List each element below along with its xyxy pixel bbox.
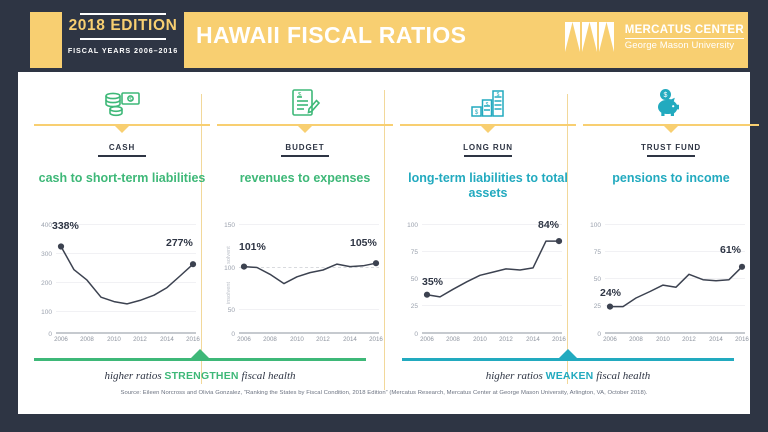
chart-budget-end-label: 105% <box>350 237 377 249</box>
svg-text:0: 0 <box>597 331 601 338</box>
svg-text:2008: 2008 <box>446 336 460 343</box>
svg-text:100: 100 <box>590 222 601 229</box>
svg-text:2006: 2006 <box>420 336 434 343</box>
panel-headline-trust-fund: pensions to income <box>583 171 759 203</box>
panel-kicker-budget: BUDGET <box>217 143 393 155</box>
footer-emphasis-strengthen: STRENGTHEN <box>164 370 238 382</box>
svg-text:150: 150 <box>224 222 235 229</box>
svg-text:75: 75 <box>411 249 419 256</box>
cash-money-icon: $ <box>34 82 210 124</box>
svg-text:2012: 2012 <box>133 336 147 343</box>
svg-text:$: $ <box>664 92 668 99</box>
footer-text-before-left: higher ratios <box>104 370 164 382</box>
svg-text:2014: 2014 <box>343 336 357 343</box>
svg-text:0: 0 <box>231 331 235 338</box>
svg-text:2014: 2014 <box>160 336 174 343</box>
svg-text:2016: 2016 <box>186 336 200 343</box>
svg-text:50: 50 <box>411 276 419 283</box>
footer-weaken: higher ratios WEAKEN fiscal health <box>392 352 744 382</box>
chart-long-run-end-label: 84% <box>538 219 559 231</box>
content-board: $ CASH cash to short-term liabilities 40… <box>18 72 750 414</box>
page-title: HAWAII FISCAL RATIOS <box>196 22 466 49</box>
svg-text:50: 50 <box>228 307 236 314</box>
kicker-underline-cash <box>98 155 146 157</box>
svg-text:2012: 2012 <box>499 336 513 343</box>
svg-text:2016: 2016 <box>735 336 749 343</box>
svg-text:$: $ <box>475 110 479 116</box>
svg-text:2006: 2006 <box>237 336 251 343</box>
logo-subtitle: George Mason University <box>625 41 744 51</box>
svg-text:25: 25 <box>411 303 419 310</box>
svg-text:100: 100 <box>41 309 52 316</box>
chart-cash-start-label: 338% <box>52 220 79 232</box>
footer-text-after-left: fiscal health <box>239 370 296 382</box>
panel-kicker-long-run: LONG RUN <box>400 143 576 155</box>
svg-text:$: $ <box>129 97 132 103</box>
footer-strengthen: higher ratios STRENGTHEN fiscal health <box>24 352 376 382</box>
panel-headline-budget: revenues to expenses <box>217 171 393 203</box>
svg-text:2010: 2010 <box>290 336 304 343</box>
panel-budget: $ BUDGET revenues to expenses 150 100 50… <box>217 82 393 343</box>
source-note: Source: Eileen Norcross and Olivia Gonza… <box>18 390 750 396</box>
footer-text-before-right: higher ratios <box>486 370 546 382</box>
footer-emphasis-weaken: WEAKEN <box>546 370 594 382</box>
logo-name: MERCATUS CENTER <box>625 24 744 36</box>
footer-caption-strengthen: higher ratios STRENGTHEN fiscal health <box>24 370 376 382</box>
panel-kicker-cash: CASH <box>34 143 210 155</box>
infographic-page: 2018 EDITION FISCAL YEARS 2006–2016 HAWA… <box>0 0 768 432</box>
svg-text:2008: 2008 <box>80 336 94 343</box>
chart-budget: 150 100 50 0 solvent insolvent <box>217 211 393 343</box>
svg-text:insolvent: insolvent <box>226 281 232 304</box>
svg-text:0: 0 <box>414 331 418 338</box>
kicker-underline-long-run <box>464 155 512 157</box>
chart-long-run-start-label: 35% <box>422 276 443 288</box>
panel-rule-budget <box>217 124 393 134</box>
svg-text:50: 50 <box>594 276 602 283</box>
panel-kicker-trust-fund: TRUST FUND <box>583 143 759 155</box>
chart-cash-end-label: 277% <box>166 237 193 249</box>
svg-text:300: 300 <box>41 251 52 258</box>
panel-headline-cash: cash to short-term liabilities <box>34 171 210 203</box>
panel-rule-cash <box>34 124 210 134</box>
svg-text:solvent: solvent <box>226 245 232 263</box>
chart-trust-fund: 100 75 50 25 0 <box>583 211 759 343</box>
panel-headline-long-run: long-term liabilities to total assets <box>400 171 576 203</box>
footer-caption-weaken: higher ratios WEAKEN fiscal health <box>392 370 744 382</box>
svg-text:0: 0 <box>48 331 52 338</box>
long-run-bars-icon: $ $ $ <box>400 82 576 124</box>
svg-text:2008: 2008 <box>629 336 643 343</box>
svg-text:2012: 2012 <box>316 336 330 343</box>
svg-text:75: 75 <box>594 249 602 256</box>
svg-text:400: 400 <box>41 222 52 229</box>
footer-text-after-right: fiscal health <box>593 370 650 382</box>
panel-trust-fund: $ TRUST FUND pensions to income 100 75 5… <box>583 82 759 343</box>
chart-cash: 400 300 200 100 0 <box>34 211 210 343</box>
svg-text:2010: 2010 <box>473 336 487 343</box>
chart-trust-fund-end-label: 61% <box>720 244 741 256</box>
svg-text:25: 25 <box>594 303 602 310</box>
chart-trust-fund-start-label: 24% <box>600 287 621 299</box>
svg-text:$: $ <box>497 92 500 98</box>
svg-text:2012: 2012 <box>682 336 696 343</box>
panel-cash: $ CASH cash to short-term liabilities 40… <box>34 82 210 343</box>
panel-long-run: $ $ $ LONG RUN long-term liabilities to … <box>400 82 576 343</box>
badge-years-label: FISCAL YEARS 2006–2016 <box>62 46 184 55</box>
svg-text:200: 200 <box>41 280 52 287</box>
kicker-underline-budget <box>281 155 329 157</box>
chart-long-run: 100 75 50 25 0 <box>400 211 576 343</box>
panel-rule-long-run <box>400 124 576 134</box>
svg-text:2006: 2006 <box>603 336 617 343</box>
svg-text:2016: 2016 <box>369 336 383 343</box>
header: 2018 EDITION FISCAL YEARS 2006–2016 HAWA… <box>0 0 768 72</box>
svg-text:2006: 2006 <box>54 336 68 343</box>
kicker-underline-trust-fund <box>647 155 695 157</box>
panel-rule-trust-fund <box>583 124 759 134</box>
trust-fund-piggy-bank-icon: $ <box>583 82 759 124</box>
mercatus-logo: MERCATUS CENTER George Mason University <box>565 22 744 52</box>
svg-text:2014: 2014 <box>526 336 540 343</box>
badge-rule-bottom <box>80 38 166 40</box>
mercatus-logo-mark <box>565 22 617 52</box>
svg-text:2008: 2008 <box>263 336 277 343</box>
edition-badge: 2018 EDITION FISCAL YEARS 2006–2016 <box>62 0 184 72</box>
budget-document-icon: $ <box>217 82 393 124</box>
svg-text:100: 100 <box>407 222 418 229</box>
svg-text:2010: 2010 <box>656 336 670 343</box>
svg-text:2014: 2014 <box>709 336 723 343</box>
svg-text:$: $ <box>486 102 489 108</box>
svg-text:2010: 2010 <box>107 336 121 343</box>
badge-edition-label: 2018 EDITION <box>62 15 184 36</box>
svg-text:2016: 2016 <box>552 336 566 343</box>
chart-budget-start-label: 101% <box>239 241 266 253</box>
logo-divider <box>625 38 744 39</box>
svg-text:100: 100 <box>224 265 235 272</box>
